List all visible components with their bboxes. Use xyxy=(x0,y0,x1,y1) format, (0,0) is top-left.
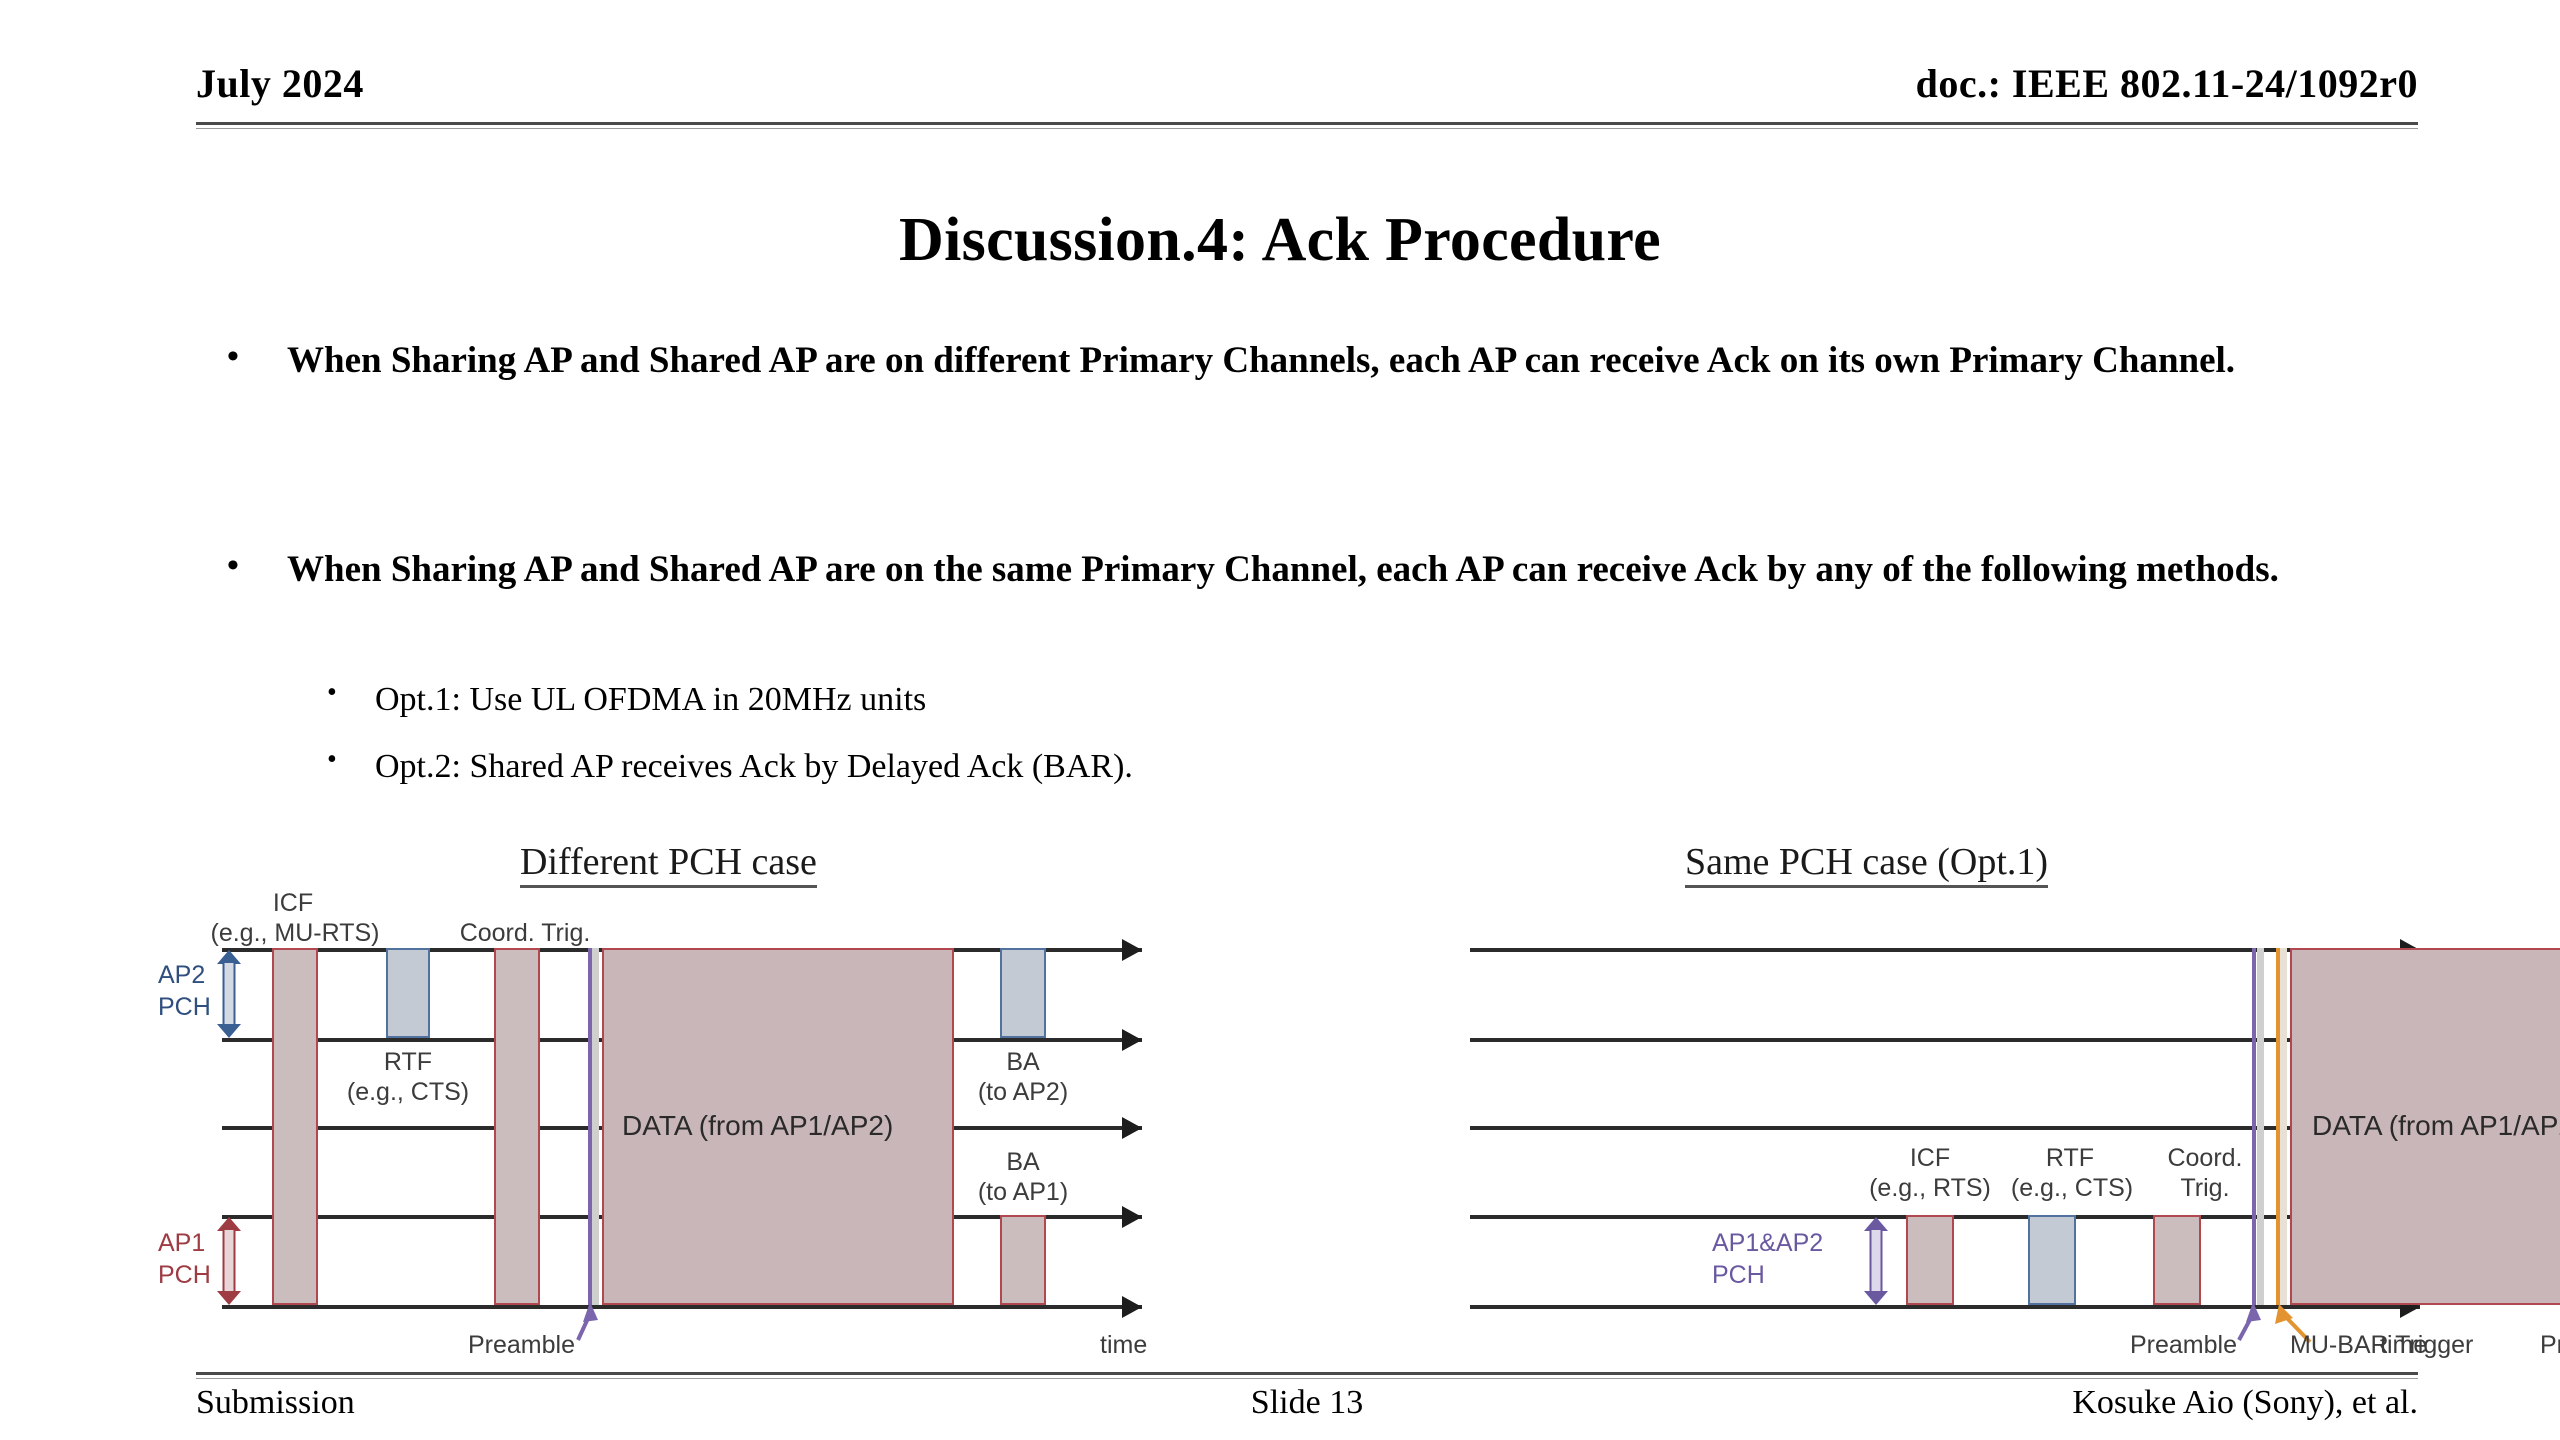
preamble-marker-line xyxy=(2252,948,2256,1305)
diagram-same-pch: Same PCH case (Opt.1) ICF (e.g., RTS) RT… xyxy=(1250,0,2560,1440)
label-data: DATA (from AP1/AP2) xyxy=(2312,1110,2560,1142)
label-coord-trig-line2: Trig. xyxy=(2140,1173,2270,1203)
label-icf-line2: (e.g., MU-RTS) xyxy=(190,918,400,948)
timeline-5-arrow xyxy=(1122,1296,1142,1318)
label-rtf-line1: RTF xyxy=(2005,1143,2135,1173)
slide-footer: Submission Slide 13 Kosuke Aio (Sony), e… xyxy=(196,1380,2418,1440)
label-ap1-pch-line2: PCH xyxy=(158,1260,211,1290)
block-rtf xyxy=(386,948,430,1038)
bracket-stem xyxy=(223,1230,236,1292)
label-ba-to-ap2-line2: (to AP2) xyxy=(958,1077,1088,1107)
label-ap1ap2-pch-line2: PCH xyxy=(1712,1260,1765,1290)
diagram-left-title: Different PCH case xyxy=(520,840,817,884)
label-rtf-line2: (e.g., CTS) xyxy=(1987,1173,2157,1203)
label-ba-to-ap1-line2: (to AP1) xyxy=(958,1177,1088,1207)
timeline-2-arrow xyxy=(1122,1029,1142,1051)
block-coord-trig xyxy=(494,948,540,1305)
timeline-4-arrow xyxy=(1122,1206,1142,1228)
bracket-arrow-down-icon xyxy=(217,1291,241,1305)
bracket-arrow-up-icon xyxy=(217,950,241,964)
block-icf xyxy=(272,948,318,1305)
label-coord-trig: Coord. Trig. xyxy=(425,918,625,948)
bracket-arrow-up-icon xyxy=(217,1217,241,1231)
bracket-ap1-pch xyxy=(216,1217,242,1305)
label-ap2-pch-line2: PCH xyxy=(158,992,211,1022)
label-rtf-line1: RTF xyxy=(338,1047,478,1077)
label-time-axis: time xyxy=(2380,1330,2427,1360)
label-coord-trig-line1: Coord. xyxy=(2140,1143,2270,1173)
bracket-stem xyxy=(223,963,236,1025)
label-ba-to-ap1-line1: BA xyxy=(968,1147,1078,1177)
mubar-marker-line xyxy=(2276,948,2280,1305)
block-ba-to-ap1 xyxy=(1000,1215,1046,1305)
footer-submission: Submission xyxy=(196,1384,355,1422)
preamble-marker-line xyxy=(588,948,592,1305)
footer-divider xyxy=(196,1372,2418,1379)
footer-author: Kosuke Aio (Sony), et al. xyxy=(2072,1384,2418,1422)
label-ba-to-ap2-line1: BA xyxy=(968,1047,1078,1077)
preamble-marker-fill xyxy=(592,948,599,1305)
label-ap1ap2-pch-line1: AP1&AP2 xyxy=(1712,1228,1823,1258)
block-coord-trig xyxy=(2153,1215,2201,1305)
bracket-arrow-down-icon xyxy=(217,1024,241,1038)
label-icf-line1: ICF xyxy=(218,888,368,918)
footer-slide-number: Slide 13 xyxy=(1251,1384,1363,1422)
diagram-different-pch: Different PCH case ICF (e.g., MU-RTS) Co… xyxy=(0,0,1250,1440)
block-rtf xyxy=(2028,1215,2076,1305)
timeline-5 xyxy=(222,1305,1142,1309)
label-preamble-2: Preamble xyxy=(2540,1330,2560,1360)
diagram-right-title: Same PCH case (Opt.1) xyxy=(1685,840,2048,884)
label-data: DATA (from AP1/AP2) xyxy=(622,1110,893,1142)
bracket-ap1-ap2-pch xyxy=(1863,1217,1889,1305)
label-ap2-pch-line1: AP2 xyxy=(158,960,205,990)
label-icf-line1: ICF xyxy=(1865,1143,1995,1173)
timeline-1-arrow xyxy=(1122,939,1142,961)
bracket-arrow-up-icon xyxy=(1864,1217,1888,1231)
block-ba-to-ap2 xyxy=(1000,948,1046,1038)
label-preamble: Preamble xyxy=(468,1330,575,1360)
bracket-arrow-down-icon xyxy=(1864,1291,1888,1305)
bracket-ap2-pch xyxy=(216,950,242,1038)
label-rtf-line2: (e.g., CTS) xyxy=(318,1077,498,1107)
label-ap1-pch-line1: AP1 xyxy=(158,1228,205,1258)
timeline-3-arrow xyxy=(1122,1117,1142,1139)
mubar-marker-fill xyxy=(2280,948,2287,1305)
preamble-marker-fill xyxy=(2257,948,2264,1305)
bracket-stem xyxy=(1870,1230,1883,1292)
block-icf xyxy=(1906,1215,1954,1305)
label-preamble-1: Preamble xyxy=(2130,1330,2237,1360)
label-time-axis: time xyxy=(1100,1330,1147,1360)
